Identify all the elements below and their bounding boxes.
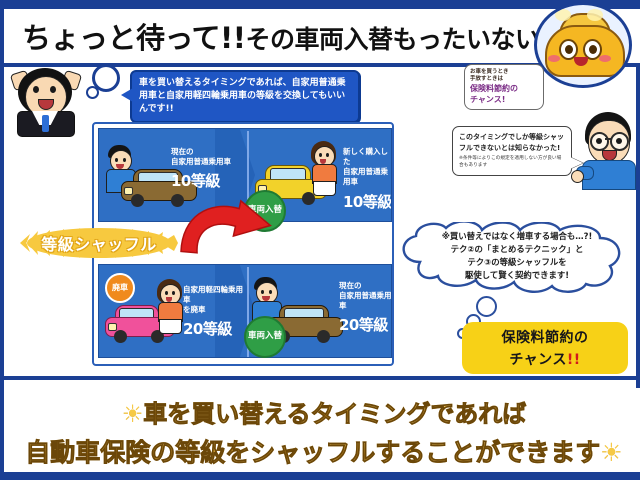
know-bubble-footnote: ※条件等によりこの規定を適用しない方が良い場合もあります — [459, 156, 565, 170]
buy-bubble-line2: 手放すときは — [470, 76, 538, 83]
intro-speech-bubble: 車を買い替えるタイミングであれば、自家用普通乗用車と自家用軽四輪乗用車の等級を交… — [130, 70, 360, 123]
grade-shuffle-burst: 等級シャッフル — [18, 222, 180, 264]
buy-bubble-highlight2: チャンス! — [470, 95, 538, 106]
scrap-badge: 廃車 — [105, 273, 135, 303]
sun-icon-right: ☀ — [600, 438, 622, 467]
intro-bubble-text: 車を買い替えるタイミングであれば、自家用普通乗用車と自家用軽四輪乗用車の等級を交… — [139, 78, 346, 114]
row-top-left-caption: 現在の 自家用普通乗用車 10等級 — [171, 147, 231, 192]
caption-line1: 自家用軽四輪乗用車 — [183, 285, 247, 305]
chance-line2: チャンス!! — [509, 349, 580, 369]
cloud-line-1: ※買い替えではなく増車する場合も…?! — [406, 230, 628, 243]
swap-badge-bottom: 車両入替 — [244, 316, 286, 358]
cloud-text: ※買い替えではなく増車する場合も…?! テク②の「まとめるテクニック」と テク③… — [406, 230, 628, 282]
glasses-lens-right — [610, 132, 629, 151]
buy-timing-bubble: お車を買うとき 手放すときは 保険料節約の チャンス! — [464, 64, 544, 110]
glasses-lens-left — [590, 132, 609, 151]
surprise-speech-bubble: このタイミングでしか等級シャッフルできないとは知らなかった! ※条件等によりこの… — [452, 126, 572, 176]
page-title: ちょっと待って!!その車両入替もったいないかも? — [22, 15, 603, 57]
shuffle-label: 等級シャッフル — [18, 222, 180, 264]
savings-chance-box: 保険料節約の チャンス!! — [462, 322, 628, 374]
businessman-eye-left — [33, 86, 39, 93]
caption-line2: を廃車 — [183, 305, 247, 315]
grade-value: 10等級 — [343, 192, 392, 212]
caption-line2: 自家用普通乗用車 — [171, 157, 231, 167]
caption-line1: 現在の — [339, 281, 392, 291]
chance-line2-text: チャンス — [509, 352, 567, 368]
glasses-man-character — [580, 112, 638, 188]
mascot-cheek-right — [599, 55, 611, 62]
row-bottom-right-caption: 現在の 自家用普通乗用車 20等級 — [339, 281, 392, 336]
mascot-highlight-left — [555, 9, 571, 21]
caption-line1: 現在の — [171, 147, 231, 157]
row-bottom-left-cell: 廃車 — [99, 265, 247, 357]
buy-bubble-highlight1: 保険料節約の — [470, 84, 538, 95]
chance-exclaim: !! — [567, 352, 581, 368]
caption-line2: 自家用普通乗用車 — [339, 291, 392, 311]
cloud-line-4: 駆使して賢く契約できます! — [406, 269, 628, 282]
panel-person-woman-2 — [155, 279, 185, 335]
bubble-tail — [121, 88, 133, 102]
businessman-character — [10, 66, 80, 134]
footer-banner: ☀車を買い替えるタイミングであれば 自動車保険の等級をシャッフルすることができま… — [4, 388, 640, 472]
glasses-man-hand — [571, 170, 584, 183]
grade-value: 10等級 — [171, 171, 231, 191]
mascot-cheek-left — [548, 55, 560, 62]
infographic-page: ちょっと待って!!その車両入替もったいないかも? 車を買い替えるタイミングであれ… — [0, 0, 640, 480]
grade-value: 20等級 — [339, 315, 392, 335]
cloud-line-3: テク③の等級シャッフルを — [406, 256, 628, 269]
grade-value: 20等級 — [183, 319, 247, 339]
chance-line1: 保険料節約の — [502, 327, 589, 347]
glasses-bridge — [605, 138, 611, 140]
panel-person-woman-1 — [309, 141, 339, 197]
footer-line-1: ☀車を買い替えるタイミングであれば — [4, 394, 640, 429]
footer-line-2: 自動車保険の等級をシャッフルすることができます☀ — [4, 433, 640, 469]
caption-line2: 自家用普通乗用車 — [343, 167, 392, 187]
cloud-tail-dot-large — [476, 296, 497, 317]
row-top-right-caption: 新しく購入した 自家用普通乗用車 10等級 — [343, 147, 392, 212]
cloud-line-2: テク②の「まとめるテクニック」と — [406, 243, 628, 256]
car-mascot-icon — [534, 2, 632, 88]
top-rail — [4, 0, 640, 9]
caption-line1: 新しく購入した — [343, 147, 392, 167]
speech-bubble-dot-small — [86, 86, 99, 99]
bottom-rail — [4, 471, 640, 480]
row-bottom-left-caption: 自家用軽四輪乗用車 を廃車 20等級 — [183, 285, 247, 340]
businessman-necktie — [42, 115, 49, 132]
footer-text-1: 車を買い替えるタイミングであれば — [143, 400, 526, 428]
mascot-highlight-right — [587, 9, 603, 21]
footer-text-2: 自動車保険の等級をシャッフルすることができます — [25, 438, 600, 467]
businessman-eye-right — [50, 86, 56, 93]
know-bubble-text: このタイミングでしか等級シャッフルできないとは知らなかった! — [459, 132, 565, 153]
footer-divider-line — [4, 376, 640, 380]
advice-thought-cloud: ※買い替えではなく増車する場合も…?! テク②の「まとめるテクニック」と テク③… — [394, 222, 640, 294]
sun-icon-left: ☀ — [122, 400, 144, 428]
shuffle-arrow-icon — [176, 196, 272, 268]
title-lead: ちょっと待って!! — [22, 21, 246, 55]
